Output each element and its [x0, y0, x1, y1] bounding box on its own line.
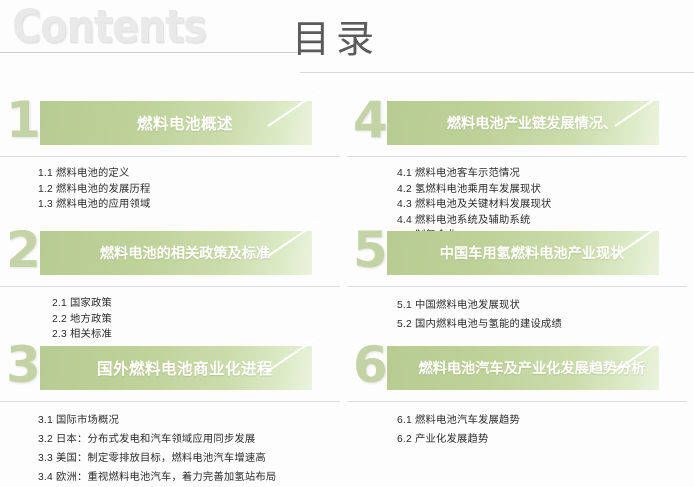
section-2-heading[interactable]: 2 燃料电池的相关政策及标准 [0, 226, 347, 284]
section-1-bar[interactable]: 燃料电池概述 [40, 101, 312, 145]
section-6-bar[interactable]: 燃料电池汽车及产业化发展趋势分析 [387, 346, 659, 390]
page-title: 目录 [292, 16, 380, 64]
list-item[interactable]: 3.4 欧洲：重视燃料电池汽车，着力完善加氢站布局 [38, 468, 343, 487]
toc-column-right: 4 燃料电池产业链发展情况、 4.1 燃料电池客车示范情况 4.2 氢燃料电池乘… [347, 96, 694, 487]
list-item[interactable]: 3.2 日本：分布式发电和汽车领域应用同步发展 [38, 430, 343, 449]
section-4-title: 燃料电池产业链发展情况、 [387, 101, 659, 145]
list-item[interactable]: 3.3 美国：制定零排放目标，燃料电池汽车增速高 [38, 449, 343, 468]
toc-section-6[interactable]: 6 燃料电池汽车及产业化发展趋势分析 6.1 燃料电池汽车发展趋势 6.2 产业… [347, 341, 694, 399]
section-2-number: 2 [6, 222, 41, 278]
section-3-sublist: 3.1 国际市场概况 3.2 日本：分布式发电和汽车领域应用同步发展 3.3 美… [38, 411, 343, 487]
section-2-divider [0, 286, 340, 287]
list-item[interactable]: 2.2 地方政策 [52, 312, 357, 328]
section-2-sublist: 2.1 国家政策 2.2 地方政策 2.3 相关标准 [52, 296, 357, 343]
section-1-number: 1 [6, 92, 41, 148]
section-3-bar[interactable]: 国外燃料电池商业化进程 [40, 346, 312, 390]
header-rule-right [300, 72, 694, 73]
section-1-heading[interactable]: 1 燃料电池概述 [0, 96, 347, 154]
section-1-divider [0, 156, 340, 157]
section-4-number: 4 [353, 92, 388, 148]
toc-section-5[interactable]: 5 中国车用氢燃料电池产业现状 5.1 中国燃料电池发展现状 5.2 国内燃料电… [347, 226, 694, 284]
list-item[interactable]: 4.3 燃料电池及关键材料发展现状 [397, 197, 694, 213]
toc-section-3[interactable]: 3 国外燃料电池商业化进程 3.1 国际市场概况 3.2 日本：分布式发电和汽车… [0, 341, 347, 399]
section-4-heading[interactable]: 4 燃料电池产业链发展情况、 [347, 96, 694, 154]
list-item[interactable]: 4.1 燃料电池客车示范情况 [397, 166, 694, 182]
section-6-divider [347, 401, 687, 402]
list-item[interactable]: 5.2 国内燃料电池与氢能的建设成绩 [397, 315, 694, 334]
toc-section-4[interactable]: 4 燃料电池产业链发展情况、 4.1 燃料电池客车示范情况 4.2 氢燃料电池乘… [347, 96, 694, 154]
list-item[interactable]: 1.2 燃料电池的发展历程 [38, 182, 343, 198]
list-item[interactable]: 1.3 燃料电池的应用领域 [38, 197, 343, 213]
section-5-bar[interactable]: 中国车用氢燃料电池产业现状 [387, 231, 659, 275]
slide-header: Contents 目录 [0, 0, 694, 92]
toc-section-2[interactable]: 2 燃料电池的相关政策及标准 2.1 国家政策 2.2 地方政策 2.3 相关标… [0, 226, 347, 284]
list-item[interactable]: 2.1 国家政策 [52, 296, 357, 312]
section-3-title: 国外燃料电池商业化进程 [40, 346, 312, 390]
header-rule-left [0, 52, 300, 53]
section-5-title: 中国车用氢燃料电池产业现状 [387, 231, 659, 275]
section-3-number: 3 [6, 337, 41, 393]
section-1-title: 燃料电池概述 [40, 101, 312, 145]
toc-section-1[interactable]: 1 燃料电池概述 1.1 燃料电池的定义 1.2 燃料电池的发展历程 1.3 燃… [0, 96, 347, 154]
section-4-bar[interactable]: 燃料电池产业链发展情况、 [387, 101, 659, 145]
section-2-title: 燃料电池的相关政策及标准 [40, 231, 312, 275]
section-3-divider [0, 401, 340, 402]
list-item[interactable]: 3.1 国际市场概况 [38, 411, 343, 430]
toc-column-left: 1 燃料电池概述 1.1 燃料电池的定义 1.2 燃料电池的发展历程 1.3 燃… [0, 96, 347, 487]
section-4-divider [347, 156, 687, 157]
list-item[interactable]: 4.2 氢燃料电池乘用车发展现状 [397, 182, 694, 198]
section-5-heading[interactable]: 5 中国车用氢燃料电池产业现状 [347, 226, 694, 284]
contents-watermark: Contents [12, 2, 206, 52]
list-item[interactable]: 6.1 燃料电池汽车发展趋势 [397, 411, 694, 430]
list-item[interactable]: 6.2 产业化发展趋势 [397, 430, 694, 449]
section-6-heading[interactable]: 6 燃料电池汽车及产业化发展趋势分析 [347, 341, 694, 399]
section-2-bar[interactable]: 燃料电池的相关政策及标准 [40, 231, 312, 275]
section-6-title: 燃料电池汽车及产业化发展趋势分析 [387, 346, 659, 390]
section-6-number: 6 [353, 337, 388, 393]
section-6-sublist: 6.1 燃料电池汽车发展趋势 6.2 产业化发展趋势 [397, 411, 694, 449]
list-item[interactable]: 1.1 燃料电池的定义 [38, 166, 343, 182]
section-3-heading[interactable]: 3 国外燃料电池商业化进程 [0, 341, 347, 399]
list-item[interactable]: 5.1 中国燃料电池发展现状 [397, 296, 694, 315]
toc-columns: 1 燃料电池概述 1.1 燃料电池的定义 1.2 燃料电池的发展历程 1.3 燃… [0, 96, 694, 487]
section-1-sublist: 1.1 燃料电池的定义 1.2 燃料电池的发展历程 1.3 燃料电池的应用领域 [38, 166, 343, 213]
section-5-number: 5 [353, 222, 388, 278]
section-5-divider [347, 286, 687, 287]
section-5-sublist: 5.1 中国燃料电池发展现状 5.2 国内燃料电池与氢能的建设成绩 [397, 296, 694, 334]
